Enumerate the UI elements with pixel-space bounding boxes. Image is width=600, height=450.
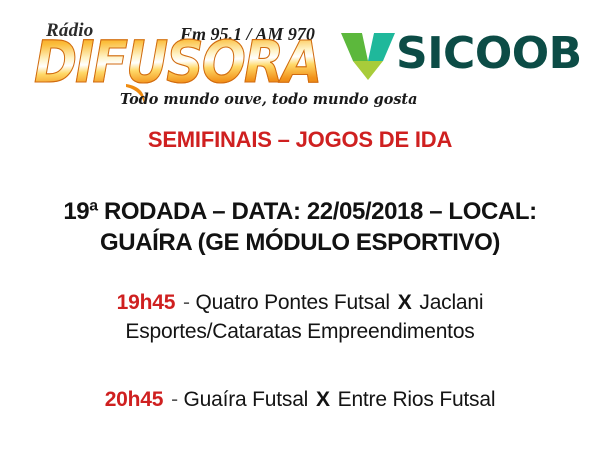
round-info-title: 19ª RODADA – DATA: 22/05/2018 – LOCAL: G… — [40, 196, 560, 258]
match-versus-label: X — [316, 388, 330, 411]
sicoob-wordmark: SICOOB — [396, 29, 582, 79]
match-row: 20h45 - Guaíra Futsal X Entre Rios Futsa… — [40, 385, 560, 414]
radio-difusora-logo: Rádio Fm 95.1 / AM 970 DIFUSORA Todo mun… — [28, 8, 340, 108]
match-separator: - — [171, 388, 178, 411]
sicoob-logo: SICOOB — [340, 24, 586, 88]
logo-header-band: Rádio Fm 95.1 / AM 970 DIFUSORA Todo mun… — [0, 0, 600, 112]
match-separator: - — [183, 291, 190, 314]
match-list: 19h45 - Quatro Pontes Futsal X Jaclani E… — [40, 288, 560, 414]
radio-difusora-tagline: Todo mundo ouve, todo mundo gosta — [120, 90, 417, 108]
flyer-page: Rádio Fm 95.1 / AM 970 DIFUSORA Todo mun… — [0, 0, 600, 450]
match-versus-label: X — [398, 291, 412, 314]
match-time: 20h45 — [105, 388, 164, 411]
match-row: 19h45 - Quatro Pontes Futsal X Jaclani E… — [40, 288, 560, 346]
sicoob-triangle-mark-icon — [340, 30, 396, 82]
match-away-team: Entre Rios Futsal — [338, 388, 496, 411]
match-home-team: Quatro Pontes Futsal — [195, 291, 389, 314]
match-home-team: Guaíra Futsal — [184, 388, 309, 411]
stage-title: SEMIFINAIS – JOGOS DE IDA — [0, 127, 600, 153]
radio-difusora-wordmark: DIFUSORA — [34, 34, 334, 92]
match-time: 19h45 — [117, 291, 176, 314]
